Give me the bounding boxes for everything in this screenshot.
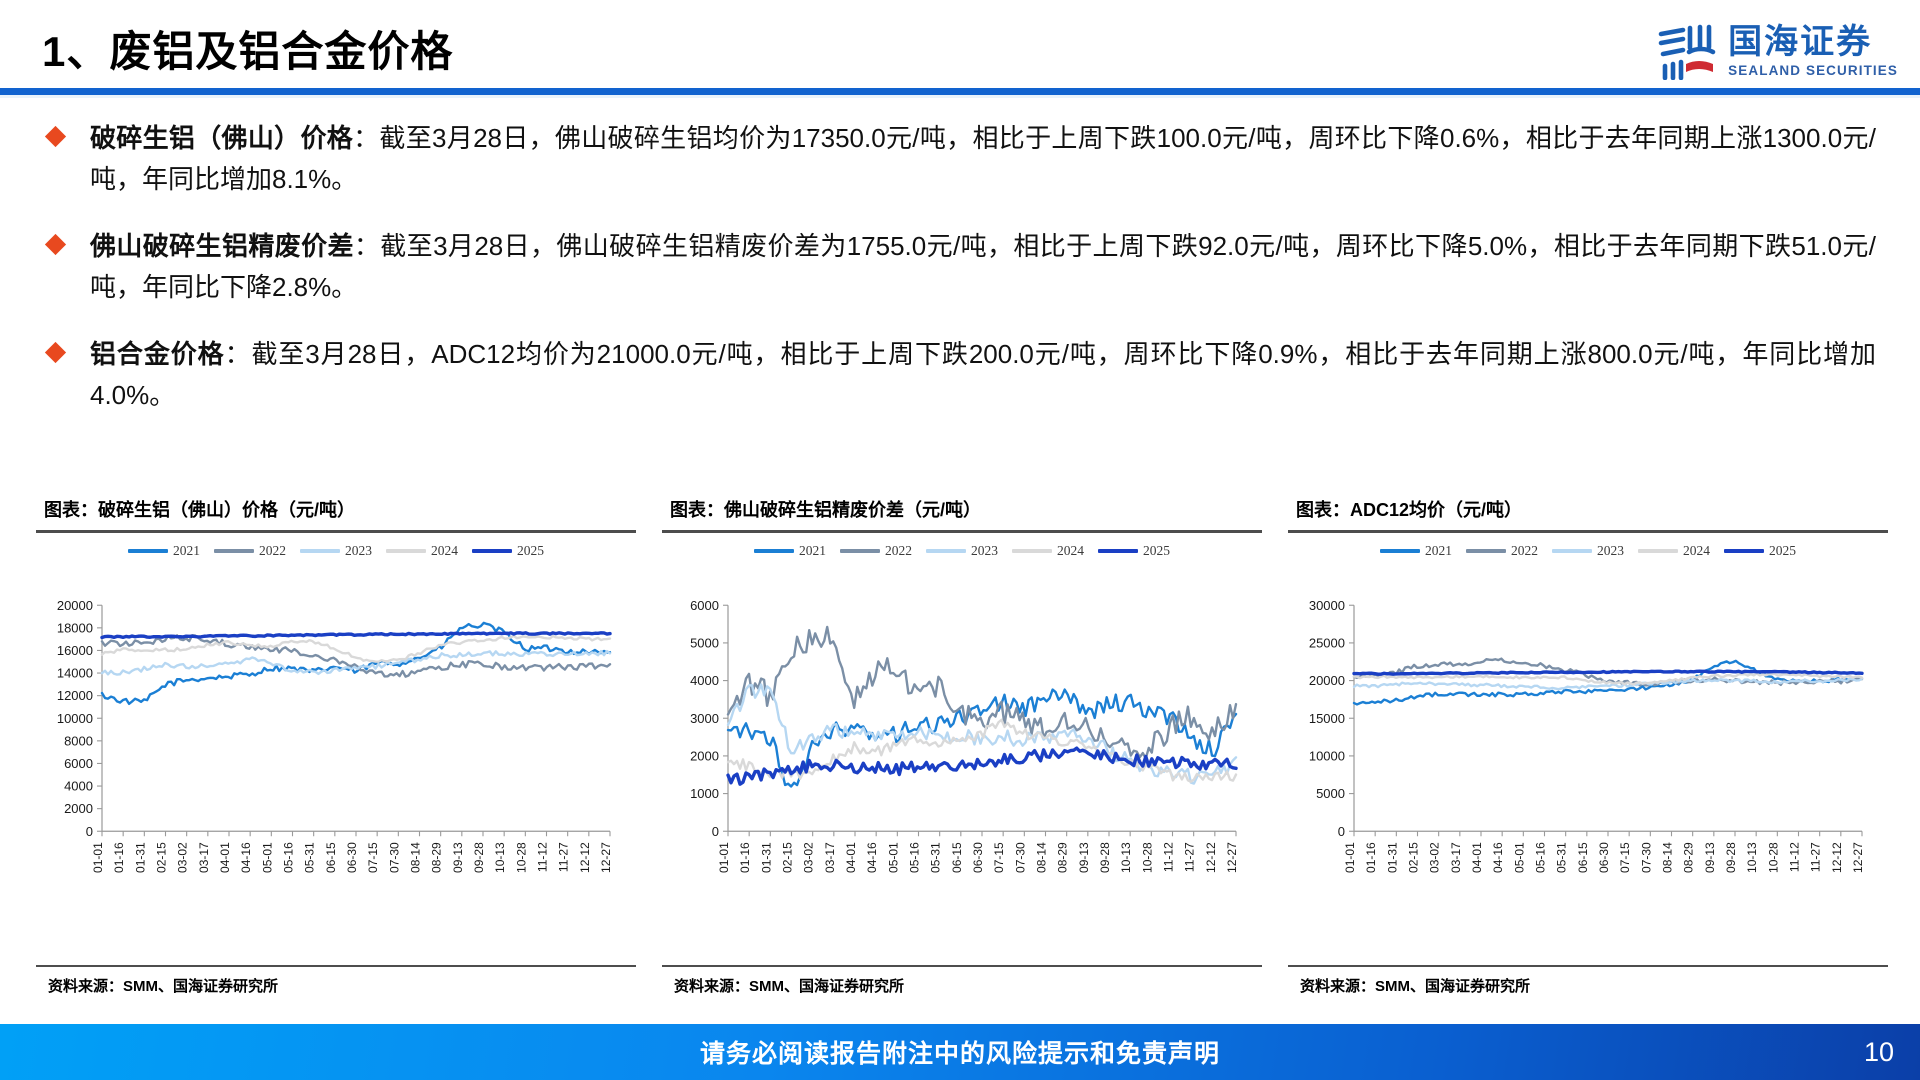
legend-label: 2023 bbox=[971, 543, 998, 559]
svg-text:06-30: 06-30 bbox=[345, 841, 359, 872]
svg-text:03-17: 03-17 bbox=[197, 841, 211, 872]
chart-plot-area: 20212022202320242025 0200040006000800010… bbox=[36, 533, 636, 966]
diamond-bullet-icon bbox=[45, 126, 66, 147]
svg-text:8000: 8000 bbox=[64, 733, 93, 748]
chart-svg: 05000100001500020000250003000001-0101-16… bbox=[1288, 533, 1888, 966]
chart-legend: 20212022202320242025 bbox=[36, 543, 636, 559]
legend-label: 2024 bbox=[1683, 543, 1710, 559]
svg-text:4000: 4000 bbox=[64, 778, 93, 793]
bullet-body: ：截至3月28日，佛山破碎生铝均价为17350.0元/吨，相比于上周下跌100.… bbox=[90, 123, 1876, 194]
legend-label: 2022 bbox=[885, 543, 912, 559]
svg-text:12-12: 12-12 bbox=[1830, 841, 1844, 872]
bullet-body: ：截至3月28日，佛山破碎生铝精废价差为1755.0元/吨，相比于上周下跌92.… bbox=[90, 231, 1876, 302]
svg-text:25000: 25000 bbox=[1309, 635, 1345, 650]
chart-title: 图表：ADC12均价（元/吨） bbox=[1288, 496, 1888, 530]
svg-text:05-16: 05-16 bbox=[282, 841, 296, 872]
svg-text:5000: 5000 bbox=[1316, 786, 1345, 801]
svg-text:3000: 3000 bbox=[690, 710, 719, 725]
legend-item-2022: 2022 bbox=[1466, 543, 1538, 559]
bullet-list: 破碎生铝（佛山）价格：截至3月28日，佛山破碎生铝均价为17350.0元/吨，相… bbox=[46, 118, 1876, 442]
legend-swatch-icon bbox=[128, 549, 168, 553]
legend-swatch-icon bbox=[926, 549, 966, 553]
page-number: 10 bbox=[1864, 1024, 1894, 1080]
svg-text:08-14: 08-14 bbox=[1661, 841, 1675, 872]
svg-text:0: 0 bbox=[712, 823, 719, 838]
legend-label: 2025 bbox=[517, 543, 544, 559]
svg-text:05-01: 05-01 bbox=[1512, 841, 1526, 872]
legend-swatch-icon bbox=[214, 549, 254, 553]
svg-text:07-30: 07-30 bbox=[1013, 841, 1027, 872]
svg-text:04-16: 04-16 bbox=[865, 841, 879, 872]
chart-title: 图表：破碎生铝（佛山）价格（元/吨） bbox=[36, 496, 636, 530]
svg-text:08-29: 08-29 bbox=[1056, 841, 1070, 872]
header-divider-light bbox=[0, 95, 1920, 98]
legend-swatch-icon bbox=[1638, 549, 1678, 553]
bullet-item: 佛山破碎生铝精废价差：截至3月28日，佛山破碎生铝精废价差为1755.0元/吨，… bbox=[46, 226, 1876, 308]
bullet-body: ：截至3月28日，ADC12均价为21000.0元/吨，相比于上周下跌200.0… bbox=[90, 339, 1876, 410]
svg-text:03-02: 03-02 bbox=[176, 841, 190, 872]
svg-text:2000: 2000 bbox=[64, 801, 93, 816]
svg-text:05-16: 05-16 bbox=[908, 841, 922, 872]
legend-item-2024: 2024 bbox=[1638, 543, 1710, 559]
chart-title: 图表：佛山破碎生铝精废价差（元/吨） bbox=[662, 496, 1262, 530]
svg-text:18000: 18000 bbox=[57, 620, 93, 635]
svg-text:05-01: 05-01 bbox=[886, 841, 900, 872]
bullet-lead: 佛山破碎生铝精废价差 bbox=[90, 231, 354, 261]
svg-text:08-29: 08-29 bbox=[1682, 841, 1696, 872]
svg-text:1000: 1000 bbox=[690, 786, 719, 801]
svg-text:05-01: 05-01 bbox=[260, 841, 274, 872]
chart-legend: 20212022202320242025 bbox=[1288, 543, 1888, 559]
logo-mark-icon bbox=[1656, 22, 1718, 80]
legend-item-2025: 2025 bbox=[1724, 543, 1796, 559]
page-header: 1、废铝及铝合金价格 国海证券 SEALAND SECURITIES bbox=[0, 0, 1920, 96]
legend-swatch-icon bbox=[754, 549, 794, 553]
svg-text:12000: 12000 bbox=[57, 688, 93, 703]
svg-text:11-12: 11-12 bbox=[1788, 841, 1802, 871]
svg-text:01-31: 01-31 bbox=[759, 841, 773, 872]
svg-text:10-28: 10-28 bbox=[514, 841, 528, 872]
svg-text:09-13: 09-13 bbox=[451, 841, 465, 872]
svg-text:01-01: 01-01 bbox=[91, 841, 105, 872]
chart-source: 资料来源：SMM、国海证券研究所 bbox=[662, 967, 1262, 996]
svg-text:6000: 6000 bbox=[64, 755, 93, 770]
legend-label: 2021 bbox=[1425, 543, 1452, 559]
page-title: 1、废铝及铝合金价格 bbox=[42, 18, 453, 79]
svg-text:20000: 20000 bbox=[57, 597, 93, 612]
svg-text:11-12: 11-12 bbox=[1162, 841, 1176, 871]
legend-label: 2025 bbox=[1769, 543, 1796, 559]
svg-text:01-31: 01-31 bbox=[1385, 841, 1399, 872]
legend-swatch-icon bbox=[472, 549, 512, 553]
bullet-text: 佛山破碎生铝精废价差：截至3月28日，佛山破碎生铝精废价差为1755.0元/吨，… bbox=[90, 226, 1876, 308]
svg-text:07-15: 07-15 bbox=[1618, 841, 1632, 872]
legend-swatch-icon bbox=[1380, 549, 1420, 553]
legend-swatch-icon bbox=[300, 549, 340, 553]
chart-card-scrap-refined-spread: 图表：佛山破碎生铝精废价差（元/吨） 20212022202320242025 … bbox=[662, 496, 1262, 996]
svg-text:11-12: 11-12 bbox=[536, 841, 550, 871]
svg-text:04-01: 04-01 bbox=[218, 841, 232, 872]
svg-text:01-01: 01-01 bbox=[717, 841, 731, 872]
legend-label: 2021 bbox=[799, 543, 826, 559]
svg-text:04-01: 04-01 bbox=[844, 841, 858, 872]
svg-text:09-28: 09-28 bbox=[472, 841, 486, 872]
svg-text:4000: 4000 bbox=[690, 673, 719, 688]
svg-text:01-01: 01-01 bbox=[1343, 841, 1357, 872]
header-divider bbox=[0, 88, 1920, 95]
svg-text:11-27: 11-27 bbox=[557, 841, 571, 871]
svg-text:08-29: 08-29 bbox=[430, 841, 444, 872]
svg-text:02-15: 02-15 bbox=[781, 841, 795, 872]
legend-item-2022: 2022 bbox=[840, 543, 912, 559]
svg-text:30000: 30000 bbox=[1309, 597, 1345, 612]
svg-text:08-14: 08-14 bbox=[409, 841, 423, 872]
legend-label: 2022 bbox=[1511, 543, 1538, 559]
legend-label: 2023 bbox=[345, 543, 372, 559]
legend-label: 2024 bbox=[1057, 543, 1084, 559]
logo-chinese-name: 国海证券 bbox=[1728, 25, 1898, 59]
legend-item-2024: 2024 bbox=[386, 543, 458, 559]
svg-text:03-17: 03-17 bbox=[823, 841, 837, 872]
svg-text:05-16: 05-16 bbox=[1534, 841, 1548, 872]
bullet-item: 破碎生铝（佛山）价格：截至3月28日，佛山破碎生铝均价为17350.0元/吨，相… bbox=[46, 118, 1876, 200]
svg-text:06-30: 06-30 bbox=[1597, 841, 1611, 872]
legend-swatch-icon bbox=[1724, 549, 1764, 553]
svg-text:05-31: 05-31 bbox=[1555, 841, 1569, 872]
charts-row: 图表：破碎生铝（佛山）价格（元/吨） 20212022202320242025 … bbox=[36, 496, 1888, 996]
chart-svg: 010002000300040005000600001-0101-1601-31… bbox=[662, 533, 1262, 966]
svg-text:08-14: 08-14 bbox=[1035, 841, 1049, 872]
legend-item-2023: 2023 bbox=[1552, 543, 1624, 559]
legend-label: 2023 bbox=[1597, 543, 1624, 559]
svg-text:04-16: 04-16 bbox=[1491, 841, 1505, 872]
svg-text:14000: 14000 bbox=[57, 665, 93, 680]
legend-swatch-icon bbox=[840, 549, 880, 553]
legend-item-2021: 2021 bbox=[754, 543, 826, 559]
legend-item-2021: 2021 bbox=[128, 543, 200, 559]
svg-text:12-27: 12-27 bbox=[1225, 841, 1239, 872]
svg-text:10000: 10000 bbox=[1309, 748, 1345, 763]
bullet-text: 铝合金价格：截至3月28日，ADC12均价为21000.0元/吨，相比于上周下跌… bbox=[90, 334, 1876, 416]
chart-svg: 0200040006000800010000120001400016000180… bbox=[36, 533, 636, 966]
svg-text:12-27: 12-27 bbox=[1851, 841, 1865, 872]
legend-item-2022: 2022 bbox=[214, 543, 286, 559]
svg-text:01-16: 01-16 bbox=[112, 841, 126, 872]
legend-label: 2021 bbox=[173, 543, 200, 559]
svg-text:10-13: 10-13 bbox=[493, 841, 507, 872]
logo-english-name: SEALAND SECURITIES bbox=[1728, 64, 1898, 78]
chart-source: 资料来源：SMM、国海证券研究所 bbox=[1288, 967, 1888, 996]
svg-text:03-02: 03-02 bbox=[1428, 841, 1442, 872]
svg-text:11-27: 11-27 bbox=[1809, 841, 1823, 871]
svg-text:12-12: 12-12 bbox=[578, 841, 592, 872]
svg-text:20000: 20000 bbox=[1309, 673, 1345, 688]
svg-text:10-28: 10-28 bbox=[1140, 841, 1154, 872]
svg-text:07-30: 07-30 bbox=[387, 841, 401, 872]
svg-text:07-15: 07-15 bbox=[992, 841, 1006, 872]
legend-item-2025: 2025 bbox=[472, 543, 544, 559]
svg-text:09-13: 09-13 bbox=[1077, 841, 1091, 872]
bullet-lead: 铝合金价格 bbox=[90, 339, 225, 369]
diamond-bullet-icon bbox=[45, 342, 66, 363]
svg-text:10-13: 10-13 bbox=[1119, 841, 1133, 872]
svg-text:03-17: 03-17 bbox=[1449, 841, 1463, 872]
svg-text:12-12: 12-12 bbox=[1204, 841, 1218, 872]
legend-item-2023: 2023 bbox=[300, 543, 372, 559]
svg-text:09-13: 09-13 bbox=[1703, 841, 1717, 872]
company-logo: 国海证券 SEALAND SECURITIES bbox=[1656, 20, 1898, 82]
svg-text:01-16: 01-16 bbox=[738, 841, 752, 872]
svg-text:0: 0 bbox=[1338, 823, 1345, 838]
svg-text:03-02: 03-02 bbox=[802, 841, 816, 872]
bullet-lead: 破碎生铝（佛山）价格 bbox=[90, 123, 353, 153]
chart-legend: 20212022202320242025 bbox=[662, 543, 1262, 559]
legend-swatch-icon bbox=[1552, 549, 1592, 553]
svg-text:12-27: 12-27 bbox=[599, 841, 613, 872]
series-line-2025 bbox=[728, 748, 1236, 784]
legend-swatch-icon bbox=[1098, 549, 1138, 553]
legend-swatch-icon bbox=[1012, 549, 1052, 553]
svg-text:09-28: 09-28 bbox=[1098, 841, 1112, 872]
legend-swatch-icon bbox=[386, 549, 426, 553]
svg-text:10000: 10000 bbox=[57, 710, 93, 725]
svg-text:10-28: 10-28 bbox=[1766, 841, 1780, 872]
legend-swatch-icon bbox=[1466, 549, 1506, 553]
legend-item-2023: 2023 bbox=[926, 543, 998, 559]
svg-text:10-13: 10-13 bbox=[1745, 841, 1759, 872]
chart-card-scrap-aluminum-price: 图表：破碎生铝（佛山）价格（元/吨） 20212022202320242025 … bbox=[36, 496, 636, 996]
series-line-2024 bbox=[728, 719, 1236, 781]
svg-text:02-15: 02-15 bbox=[1407, 841, 1421, 872]
svg-text:02-15: 02-15 bbox=[155, 841, 169, 872]
chart-plot-area: 20212022202320242025 0100020003000400050… bbox=[662, 533, 1262, 966]
svg-text:16000: 16000 bbox=[57, 642, 93, 657]
svg-text:04-01: 04-01 bbox=[1470, 841, 1484, 872]
svg-text:0: 0 bbox=[86, 823, 93, 838]
legend-label: 2024 bbox=[431, 543, 458, 559]
page-footer: 请务必阅读报告附注中的风险提示和免责声明 10 bbox=[0, 1024, 1920, 1080]
svg-text:2000: 2000 bbox=[690, 748, 719, 763]
legend-label: 2025 bbox=[1143, 543, 1170, 559]
svg-text:15000: 15000 bbox=[1309, 710, 1345, 725]
svg-text:07-30: 07-30 bbox=[1639, 841, 1653, 872]
svg-text:06-15: 06-15 bbox=[950, 841, 964, 872]
legend-item-2021: 2021 bbox=[1380, 543, 1452, 559]
svg-text:06-15: 06-15 bbox=[1576, 841, 1590, 872]
legend-label: 2022 bbox=[259, 543, 286, 559]
svg-text:06-30: 06-30 bbox=[971, 841, 985, 872]
svg-text:06-15: 06-15 bbox=[324, 841, 338, 872]
svg-text:05-31: 05-31 bbox=[303, 841, 317, 872]
svg-text:05-31: 05-31 bbox=[929, 841, 943, 872]
chart-source: 资料来源：SMM、国海证券研究所 bbox=[36, 967, 636, 996]
svg-text:01-31: 01-31 bbox=[133, 841, 147, 872]
svg-text:5000: 5000 bbox=[690, 635, 719, 650]
bullet-item: 铝合金价格：截至3月28日，ADC12均价为21000.0元/吨，相比于上周下跌… bbox=[46, 334, 1876, 416]
diamond-bullet-icon bbox=[45, 234, 66, 255]
legend-item-2024: 2024 bbox=[1012, 543, 1084, 559]
svg-text:01-16: 01-16 bbox=[1364, 841, 1378, 872]
svg-text:11-27: 11-27 bbox=[1183, 841, 1197, 871]
svg-text:09-28: 09-28 bbox=[1724, 841, 1738, 872]
svg-text:6000: 6000 bbox=[690, 597, 719, 612]
legend-item-2025: 2025 bbox=[1098, 543, 1170, 559]
bullet-text: 破碎生铝（佛山）价格：截至3月28日，佛山破碎生铝均价为17350.0元/吨，相… bbox=[90, 118, 1876, 200]
chart-card-adc12-price: 图表：ADC12均价（元/吨） 20212022202320242025 050… bbox=[1288, 496, 1888, 996]
chart-plot-area: 20212022202320242025 0500010000150002000… bbox=[1288, 533, 1888, 966]
svg-text:04-16: 04-16 bbox=[239, 841, 253, 872]
svg-text:07-15: 07-15 bbox=[366, 841, 380, 872]
footer-disclaimer: 请务必阅读报告附注中的风险提示和免责声明 bbox=[0, 1024, 1920, 1080]
